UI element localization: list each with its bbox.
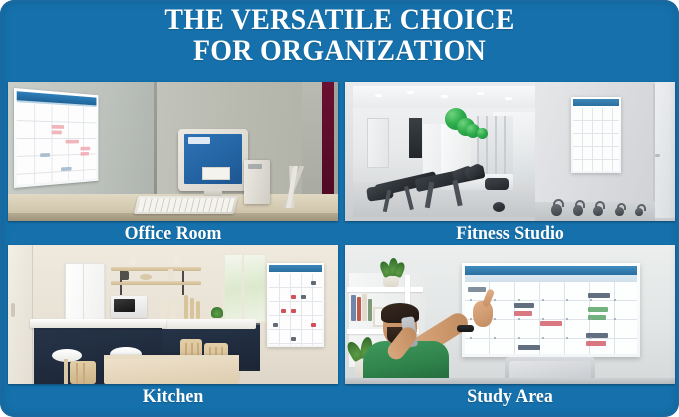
kitchen-table-edge [104, 355, 239, 359]
fitness-kettlebell-handle [553, 199, 564, 207]
photo-study-area [345, 245, 675, 384]
office-calendar-note [52, 131, 62, 135]
study-calendar-date-dot [470, 299, 472, 301]
caption-office-room: Office Room [18, 221, 328, 246]
photo-fitness-studio [345, 82, 675, 221]
fitness-door-handle [655, 154, 660, 157]
photo-office-room [8, 82, 338, 221]
study-calendar-date-dot [566, 318, 568, 320]
kitchen-utensil [184, 295, 188, 319]
study-calendar-date-dot [590, 337, 592, 339]
study-calendar-note [586, 341, 606, 346]
kitchen-shelf-jar [130, 257, 136, 265]
kitchen-calendar-mark [273, 323, 278, 327]
photo-kitchen [8, 245, 338, 384]
feature-grid: Office Room [8, 82, 671, 412]
study-calendar-date-dot [542, 337, 544, 339]
office-desk-front [8, 213, 338, 221]
study-calendar-date-dot [518, 299, 520, 301]
fitness-kettlebell-handle [637, 204, 646, 211]
kitchen-calendar-mark [301, 295, 306, 299]
kitchen-calendar-mark [311, 323, 316, 327]
kitchen-wall-calendar [267, 263, 324, 347]
kitchen-chair-slat [76, 363, 78, 384]
kitchen-shelf-bracket [182, 271, 184, 282]
caption-study-area: Study Area [355, 384, 665, 409]
office-maroon-panel [322, 82, 334, 208]
fitness-side-door [653, 84, 675, 218]
study-calendar-date-dot [566, 337, 568, 339]
study-calendar-date-dot [614, 299, 616, 301]
title-line-1: THE VERSATILE CHOICE [24, 4, 655, 35]
kitchen-island-top [30, 319, 166, 328]
study-calendar-date-dot [590, 318, 592, 320]
card-kitchen: Kitchen [8, 245, 338, 409]
office-tower-logo [248, 164, 262, 169]
kitchen-shelf-jar [168, 269, 173, 281]
office-calendar-note [40, 153, 50, 157]
kitchen-canister [170, 303, 177, 319]
study-calendar-date-dot [470, 318, 472, 320]
fitness-ceiling-light [375, 94, 382, 97]
study-calendar-note [514, 303, 534, 308]
fitness-kettlebell-handle [595, 201, 605, 209]
office-wall-corner [154, 82, 157, 202]
study-calendar-date-dot [518, 318, 520, 320]
kitchen-shelf-bracket [182, 285, 184, 295]
fitness-ceiling-light [477, 92, 484, 95]
kitchen-calendar-mark [311, 281, 316, 285]
office-keyboard [134, 196, 238, 214]
kitchen-dining-table [104, 355, 239, 384]
study-calendar-date-dot [542, 299, 544, 301]
kitchen-upper-cabinet [65, 263, 105, 327]
kitchen-window-frame [242, 253, 244, 319]
fitness-ceiling-light [441, 95, 448, 98]
study-calendar-note [588, 293, 610, 298]
office-calendar-note [61, 167, 72, 171]
page-title: THE VERSATILE CHOICE FOR ORGANIZATION [24, 4, 655, 66]
study-calendar-note [540, 321, 562, 326]
study-calendar-date-dot [542, 318, 544, 320]
office-calendar-note [52, 125, 65, 129]
fitness-bench-pad [485, 178, 509, 190]
office-calendar-note [80, 147, 90, 151]
study-calendar-date-dot [494, 337, 496, 339]
kitchen-chair-slat [83, 363, 85, 384]
office-keyboard-keys [137, 198, 234, 212]
fitness-door [367, 118, 389, 168]
kitchen-microwave-window [114, 299, 135, 312]
caption-kitchen: Kitchen [18, 384, 328, 409]
card-office-room: Office Room [8, 82, 338, 246]
fitness-exercise-ball [477, 128, 488, 139]
kitchen-cabinet-seam [83, 264, 84, 324]
kitchen-calendar-mark [281, 309, 286, 313]
fitness-kettlebell-handle [617, 203, 626, 210]
office-calendar-note [66, 140, 79, 144]
fitness-ceiling-light [407, 91, 414, 94]
poster: THE VERSATILE CHOICE FOR ORGANIZATION [0, 0, 679, 417]
office-calendar-grid [17, 103, 97, 185]
study-calendar-date-dot [494, 318, 496, 320]
fitness-dark-locker [409, 118, 422, 158]
office-monitor-logo [188, 137, 210, 144]
study-book [351, 295, 356, 321]
kitchen-shelf-bowl [140, 274, 152, 280]
office-wall-calendar [14, 88, 98, 188]
study-calendar-note [588, 307, 608, 312]
kitchen-plant [211, 307, 223, 318]
kitchen-shelf-item [120, 271, 129, 280]
kitchen-calendar-mark [291, 337, 296, 341]
kitchen-calendar-header [269, 265, 322, 272]
study-calendar-date-dot [518, 337, 520, 339]
study-calendar-header [465, 266, 637, 275]
office-cables [270, 166, 314, 208]
study-calendar-date-dot [470, 337, 472, 339]
title-line-2: FOR ORGANIZATION [24, 35, 655, 66]
kitchen-window [223, 253, 267, 323]
fitness-kettlebell-handle [575, 200, 585, 208]
study-book [362, 294, 367, 321]
office-monitor-sticky-note [202, 167, 230, 180]
study-calendar-date-dot [494, 299, 496, 301]
kitchen-utensil [196, 301, 200, 319]
kitchen-utensil [190, 298, 194, 319]
fitness-calendar-header [573, 99, 619, 106]
kitchen-shelf-jar [174, 257, 180, 265]
card-fitness-studio: Fitness Studio [345, 82, 675, 246]
study-calendar-date-dot [614, 318, 616, 320]
study-calendar-note [468, 287, 486, 292]
card-study-area: Study Area [345, 245, 675, 409]
kitchen-shelf [111, 281, 201, 285]
study-book [357, 297, 361, 321]
fitness-wall-calendar [571, 97, 621, 173]
kitchen-door-handle [11, 303, 15, 317]
study-calendar-note [514, 311, 532, 316]
study-book [368, 299, 372, 321]
kitchen-shelf-bracket [120, 285, 122, 295]
caption-fitness-studio: Fitness Studio [355, 221, 665, 246]
fitness-calendar-grid [573, 108, 619, 171]
office-calendar-note [80, 152, 88, 156]
study-shelf-board [347, 287, 423, 292]
study-calendar-weekday-row [465, 275, 637, 282]
kitchen-calendar-mark [291, 309, 296, 313]
kitchen-stool-leg [64, 359, 68, 384]
fitness-ceiling-light [505, 97, 512, 100]
study-calendar-date-dot [590, 299, 592, 301]
kitchen-canister [160, 301, 167, 319]
fitness-weight-plate [493, 202, 505, 212]
study-calendar-note [518, 345, 540, 350]
study-calendar-date-dot [566, 299, 568, 301]
kitchen-calendar-mark [291, 295, 296, 299]
study-man-watch [457, 325, 474, 332]
